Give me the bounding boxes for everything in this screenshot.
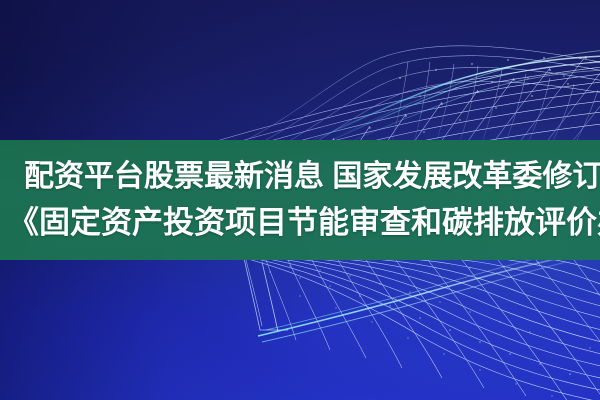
headline-text-block: 配资平台股票最新消息 国家发展改革委修订印发 《固定资产投资项目节能审查和碳排放… <box>0 140 600 260</box>
headline-line-2: 《固定资产投资项目节能审查和碳排放评价办法》 <box>0 200 600 246</box>
banner-image: 配资平台股票最新消息 国家发展改革委修订印发 《固定资产投资项目节能审查和碳排放… <box>0 0 600 400</box>
headline-line-1: 配资平台股票最新消息 国家发展改革委修订印发 <box>0 154 600 200</box>
headline-band: 配资平台股票最新消息 国家发展改革委修订印发 《固定资产投资项目节能审查和碳排放… <box>0 140 600 260</box>
